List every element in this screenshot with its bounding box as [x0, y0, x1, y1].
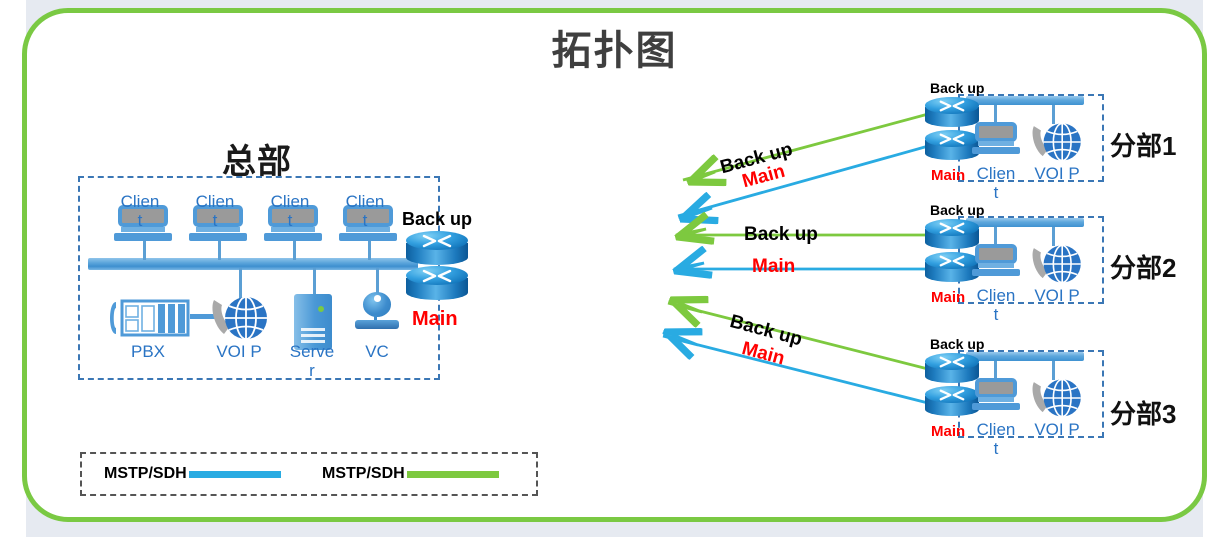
hq-client-drop [368, 240, 371, 260]
router-arrows-icon [939, 221, 965, 235]
hq-server-drop [313, 268, 316, 296]
link-label-main-branch2: Main [752, 256, 795, 278]
branch3-router-backup-label: Back up [930, 336, 984, 352]
branch2-voip-icon [1028, 241, 1084, 287]
legend-swatch-green [407, 471, 499, 478]
hq-voip-icon [208, 292, 270, 344]
branch1-voip-icon [1028, 119, 1084, 165]
hq-voip-label: VOI P [215, 342, 263, 361]
branch2-router-backup-label: Back up [930, 202, 984, 218]
router-arrows-icon [939, 388, 965, 402]
laptop-base [972, 147, 1021, 154]
laptop-hinge [978, 397, 1015, 401]
page-title: 拓扑图 [0, 18, 1229, 76]
branch2-client-laptop [975, 244, 1017, 276]
branch3-voip-label: VOI P [1033, 420, 1081, 439]
legend-label: MSTP/SDH [322, 465, 405, 483]
hq-client-label: Clien t [344, 192, 386, 230]
hq-router-backup [406, 231, 468, 265]
legend: MSTP/SDH MSTP/SDH [80, 452, 538, 496]
branch1-heading: 分部1 [1110, 126, 1176, 163]
hq-client-label: Clien t [269, 192, 311, 230]
pbx-icon [104, 296, 192, 340]
legend-item-mstp-sdh-backup: MSTP/SDH [322, 465, 499, 483]
legend-label: MSTP/SDH [104, 465, 187, 483]
link-label-backup-branch2: Back up [744, 224, 818, 246]
webcam-base [355, 320, 399, 329]
branch1-router-backup-label: Back up [930, 80, 984, 96]
server-led [318, 306, 324, 312]
hq-pbx-label: PBX [118, 342, 178, 361]
branch1-router-backup [925, 97, 979, 127]
branch2-router-main-label: Main [931, 289, 965, 306]
branch2-client-label: Clien t [975, 286, 1017, 324]
legend-item-mstp-sdh-main: MSTP/SDH [104, 465, 281, 483]
branch3-voip-icon [1028, 375, 1084, 421]
branch1-voip-label: VOI P [1033, 164, 1081, 183]
router-arrows-icon [939, 355, 965, 369]
branch2-bus-bar [966, 218, 1084, 227]
laptop-base [189, 233, 247, 241]
branch3-heading: 分部3 [1110, 394, 1176, 431]
hq-router-backup-label: Back up [402, 209, 472, 230]
hq-router-main [406, 266, 468, 300]
laptop-base [972, 269, 1021, 276]
hq-vc-label: VC [348, 342, 406, 361]
branch3-client-label: Clien t [975, 420, 1017, 458]
branch3-router-main-label: Main [931, 423, 965, 440]
branch3-bus-bar [966, 352, 1084, 361]
hq-client-drop [143, 240, 146, 260]
laptop-hinge [978, 141, 1015, 145]
router-arrows-icon [422, 233, 452, 249]
laptop-screen [975, 122, 1017, 142]
hq-client-drop [218, 240, 221, 260]
branch3-router-main [925, 386, 979, 416]
hq-client-label: Clien t [194, 192, 236, 230]
laptop-base [339, 233, 397, 241]
server-vent [301, 328, 325, 331]
branch3-client-laptop [975, 378, 1017, 410]
branch2-router-backup [925, 219, 979, 249]
branch3-router-backup [925, 353, 979, 383]
webcam-highlight [374, 295, 382, 302]
branch1-router-main-label: Main [931, 167, 965, 184]
router-arrows-icon [939, 132, 965, 146]
hq-server-label: Serve r [288, 342, 336, 380]
branch2-heading: 分部2 [1110, 248, 1176, 285]
laptop-hinge [978, 263, 1015, 267]
webcam-lens [363, 292, 391, 317]
branch2-router-main [925, 252, 979, 282]
laptop-base [114, 233, 172, 241]
branch1-client-label: Clien t [975, 164, 1017, 202]
hq-vc-icon [355, 292, 399, 336]
router-arrows-icon [422, 268, 452, 284]
branch1-bus-bar [966, 96, 1084, 105]
hq-client-label: Clien t [119, 192, 161, 230]
branch1-client-laptop [975, 122, 1017, 154]
branch2-voip-label: VOI P [1033, 286, 1081, 305]
laptop-base [264, 233, 322, 241]
laptop-base [972, 403, 1021, 410]
laptop-screen [975, 378, 1017, 398]
server-vent [301, 334, 325, 337]
router-arrows-icon [939, 99, 965, 113]
laptop-screen [975, 244, 1017, 264]
branch1-router-main [925, 130, 979, 160]
router-arrows-icon [939, 254, 965, 268]
hq-router-main-label: Main [412, 308, 458, 331]
legend-swatch-blue [189, 471, 281, 478]
topology-diagram: 拓扑图 Back up Main Back up Main Back up Ma… [0, 0, 1229, 537]
hq-client-drop [293, 240, 296, 260]
